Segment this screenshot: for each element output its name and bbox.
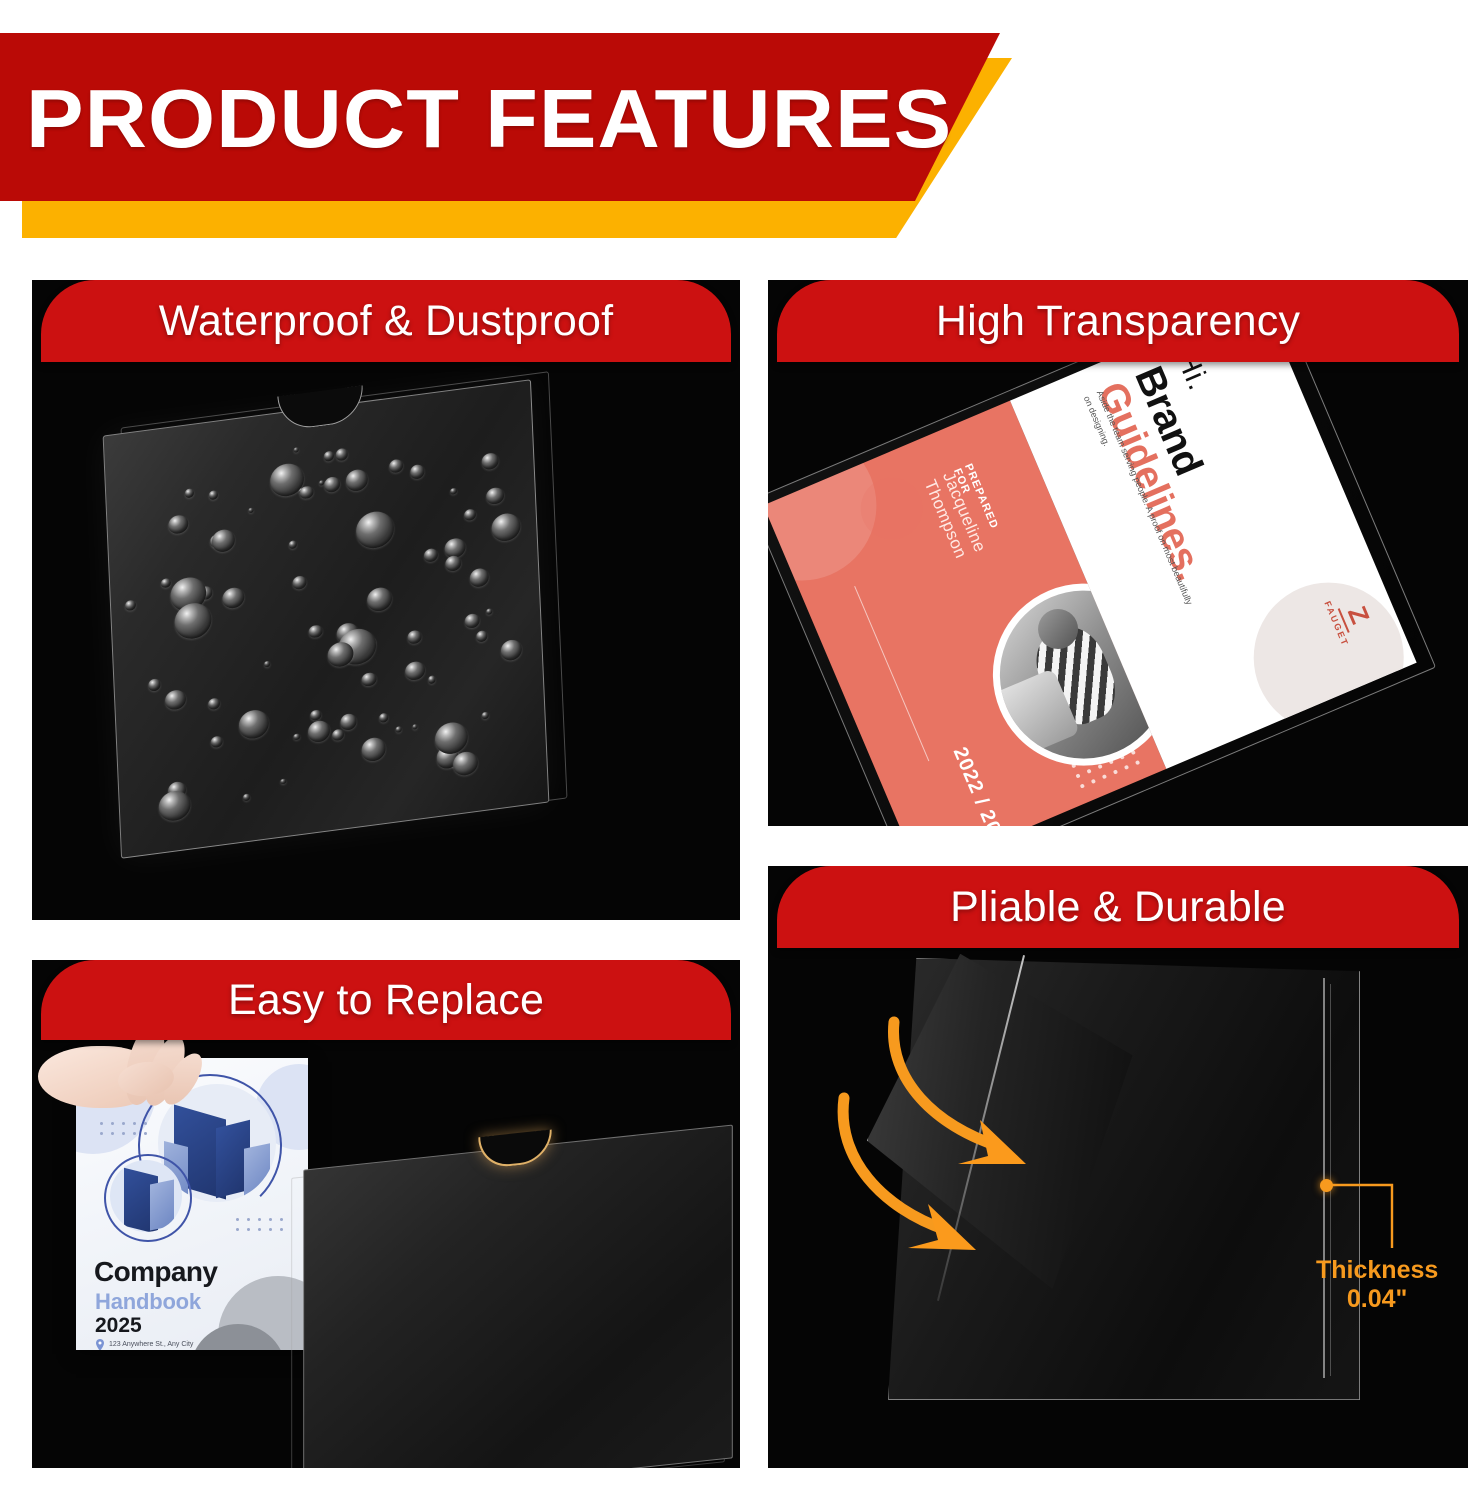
panel-title-transparency: High Transparency [936, 300, 1300, 343]
handbook-address: 123 Anywhere St., Any City [109, 1341, 193, 1348]
panel-title-waterproof: Waterproof & Dustproof [159, 300, 614, 343]
panel-title-tab-waterproof: Waterproof & Dustproof [41, 280, 731, 362]
water-droplet [453, 751, 479, 777]
water-droplet [211, 528, 235, 553]
clear-document-sleeve [103, 379, 550, 859]
water-droplet [355, 509, 395, 550]
location-pin-icon [95, 1339, 105, 1350]
panel-title-tab-transparency: High Transparency [777, 280, 1459, 362]
empty-clear-sleeve [303, 1125, 733, 1468]
brochure-year: 2022 / 2023 [948, 744, 1015, 826]
water-droplet [434, 720, 468, 755]
sheet-edge [1323, 978, 1325, 1378]
page-title: PRODUCT FEATURES [26, 63, 962, 173]
water-droplet [404, 660, 425, 681]
water-droplet [280, 778, 287, 785]
thickness-leader-line [1326, 1172, 1416, 1262]
water-droplet [424, 547, 439, 562]
feature-panel-replace: Easy to Replace Company Handbook 2025 12… [32, 960, 740, 1468]
water-droplet [293, 447, 299, 453]
dot-grid-2 [236, 1218, 288, 1240]
panel-title-replace: Easy to Replace [228, 979, 544, 1022]
water-droplet [412, 724, 418, 730]
water-droplet [389, 459, 403, 474]
brochure-in-sleeve: PREPARED FOR Jacqueline Thompson 2022 / … [768, 294, 1417, 826]
water-droplet [293, 733, 300, 741]
water-droplet [410, 464, 425, 480]
thickness-callout-label: Thickness 0.04" [1316, 1256, 1438, 1313]
water-droplet [345, 468, 368, 492]
panel-title-tab-replace: Easy to Replace [41, 960, 731, 1040]
water-droplet [288, 541, 297, 550]
water-droplet [207, 698, 219, 711]
water-droplet [292, 575, 307, 590]
water-droplet [491, 512, 521, 543]
water-droplet [238, 709, 268, 740]
water-droplet [500, 638, 523, 661]
water-droplet [362, 672, 377, 687]
water-droplet [165, 688, 186, 710]
water-droplet [445, 554, 462, 572]
feature-panel-transparency: High Transparency PREPARED FOR Jacquelin… [768, 280, 1468, 826]
water-droplet [481, 712, 488, 719]
water-droplet [324, 476, 341, 493]
feature-panel-pliable: Pliable & Durable Thickness 0.04" [768, 866, 1468, 1468]
bend-arrow-icon-2 [828, 1076, 1058, 1276]
water-droplet [476, 630, 488, 642]
water-droplet [264, 661, 270, 667]
handbook-title: Company [94, 1256, 217, 1288]
water-droplet [324, 451, 335, 462]
water-droplet [486, 608, 492, 614]
handbook-subtitle: Handbook [95, 1289, 201, 1315]
water-droplet [209, 490, 219, 500]
thickness-label-text: Thickness [1316, 1256, 1438, 1285]
water-droplet [465, 613, 481, 629]
water-droplet [379, 713, 389, 723]
water-droplet [332, 729, 344, 742]
water-droplet [340, 713, 357, 731]
water-droplet [248, 508, 253, 513]
water-droplet [211, 735, 223, 748]
thumb-notch-highlight-icon [478, 1129, 552, 1169]
water-droplet [148, 678, 161, 691]
water-droplet [310, 710, 321, 721]
feature-panel-waterproof: Waterproof & Dustproof [32, 280, 740, 920]
water-droplet [125, 599, 136, 611]
water-droplet [161, 578, 171, 588]
water-droplet [335, 448, 348, 461]
water-droplet [309, 625, 323, 639]
water-droplet [307, 719, 330, 743]
water-droplet [482, 452, 499, 470]
water-droplet [428, 676, 436, 684]
water-droplet [450, 488, 457, 495]
water-droplet [486, 487, 504, 506]
page-header: PRODUCT FEATURES [0, 0, 1483, 250]
brochure-rule [854, 586, 929, 761]
water-droplet [222, 586, 245, 609]
water-droplet [464, 509, 476, 522]
panel-title-pliable: Pliable & Durable [950, 886, 1286, 929]
thickness-value-text: 0.04" [1316, 1285, 1438, 1314]
water-droplet [243, 794, 250, 801]
handbook-year: 2025 [95, 1314, 142, 1338]
panel-title-tab-pliable: Pliable & Durable [777, 866, 1459, 948]
water-droplet [300, 485, 314, 500]
water-droplet [185, 488, 195, 498]
water-droplet [367, 586, 393, 613]
water-droplet [167, 514, 188, 535]
thumb-notch-icon [277, 385, 364, 431]
water-droplet [469, 567, 489, 588]
water-droplet [158, 789, 191, 823]
water-droplet [408, 630, 422, 644]
water-droplet [395, 726, 401, 732]
water-droplet [361, 737, 386, 762]
